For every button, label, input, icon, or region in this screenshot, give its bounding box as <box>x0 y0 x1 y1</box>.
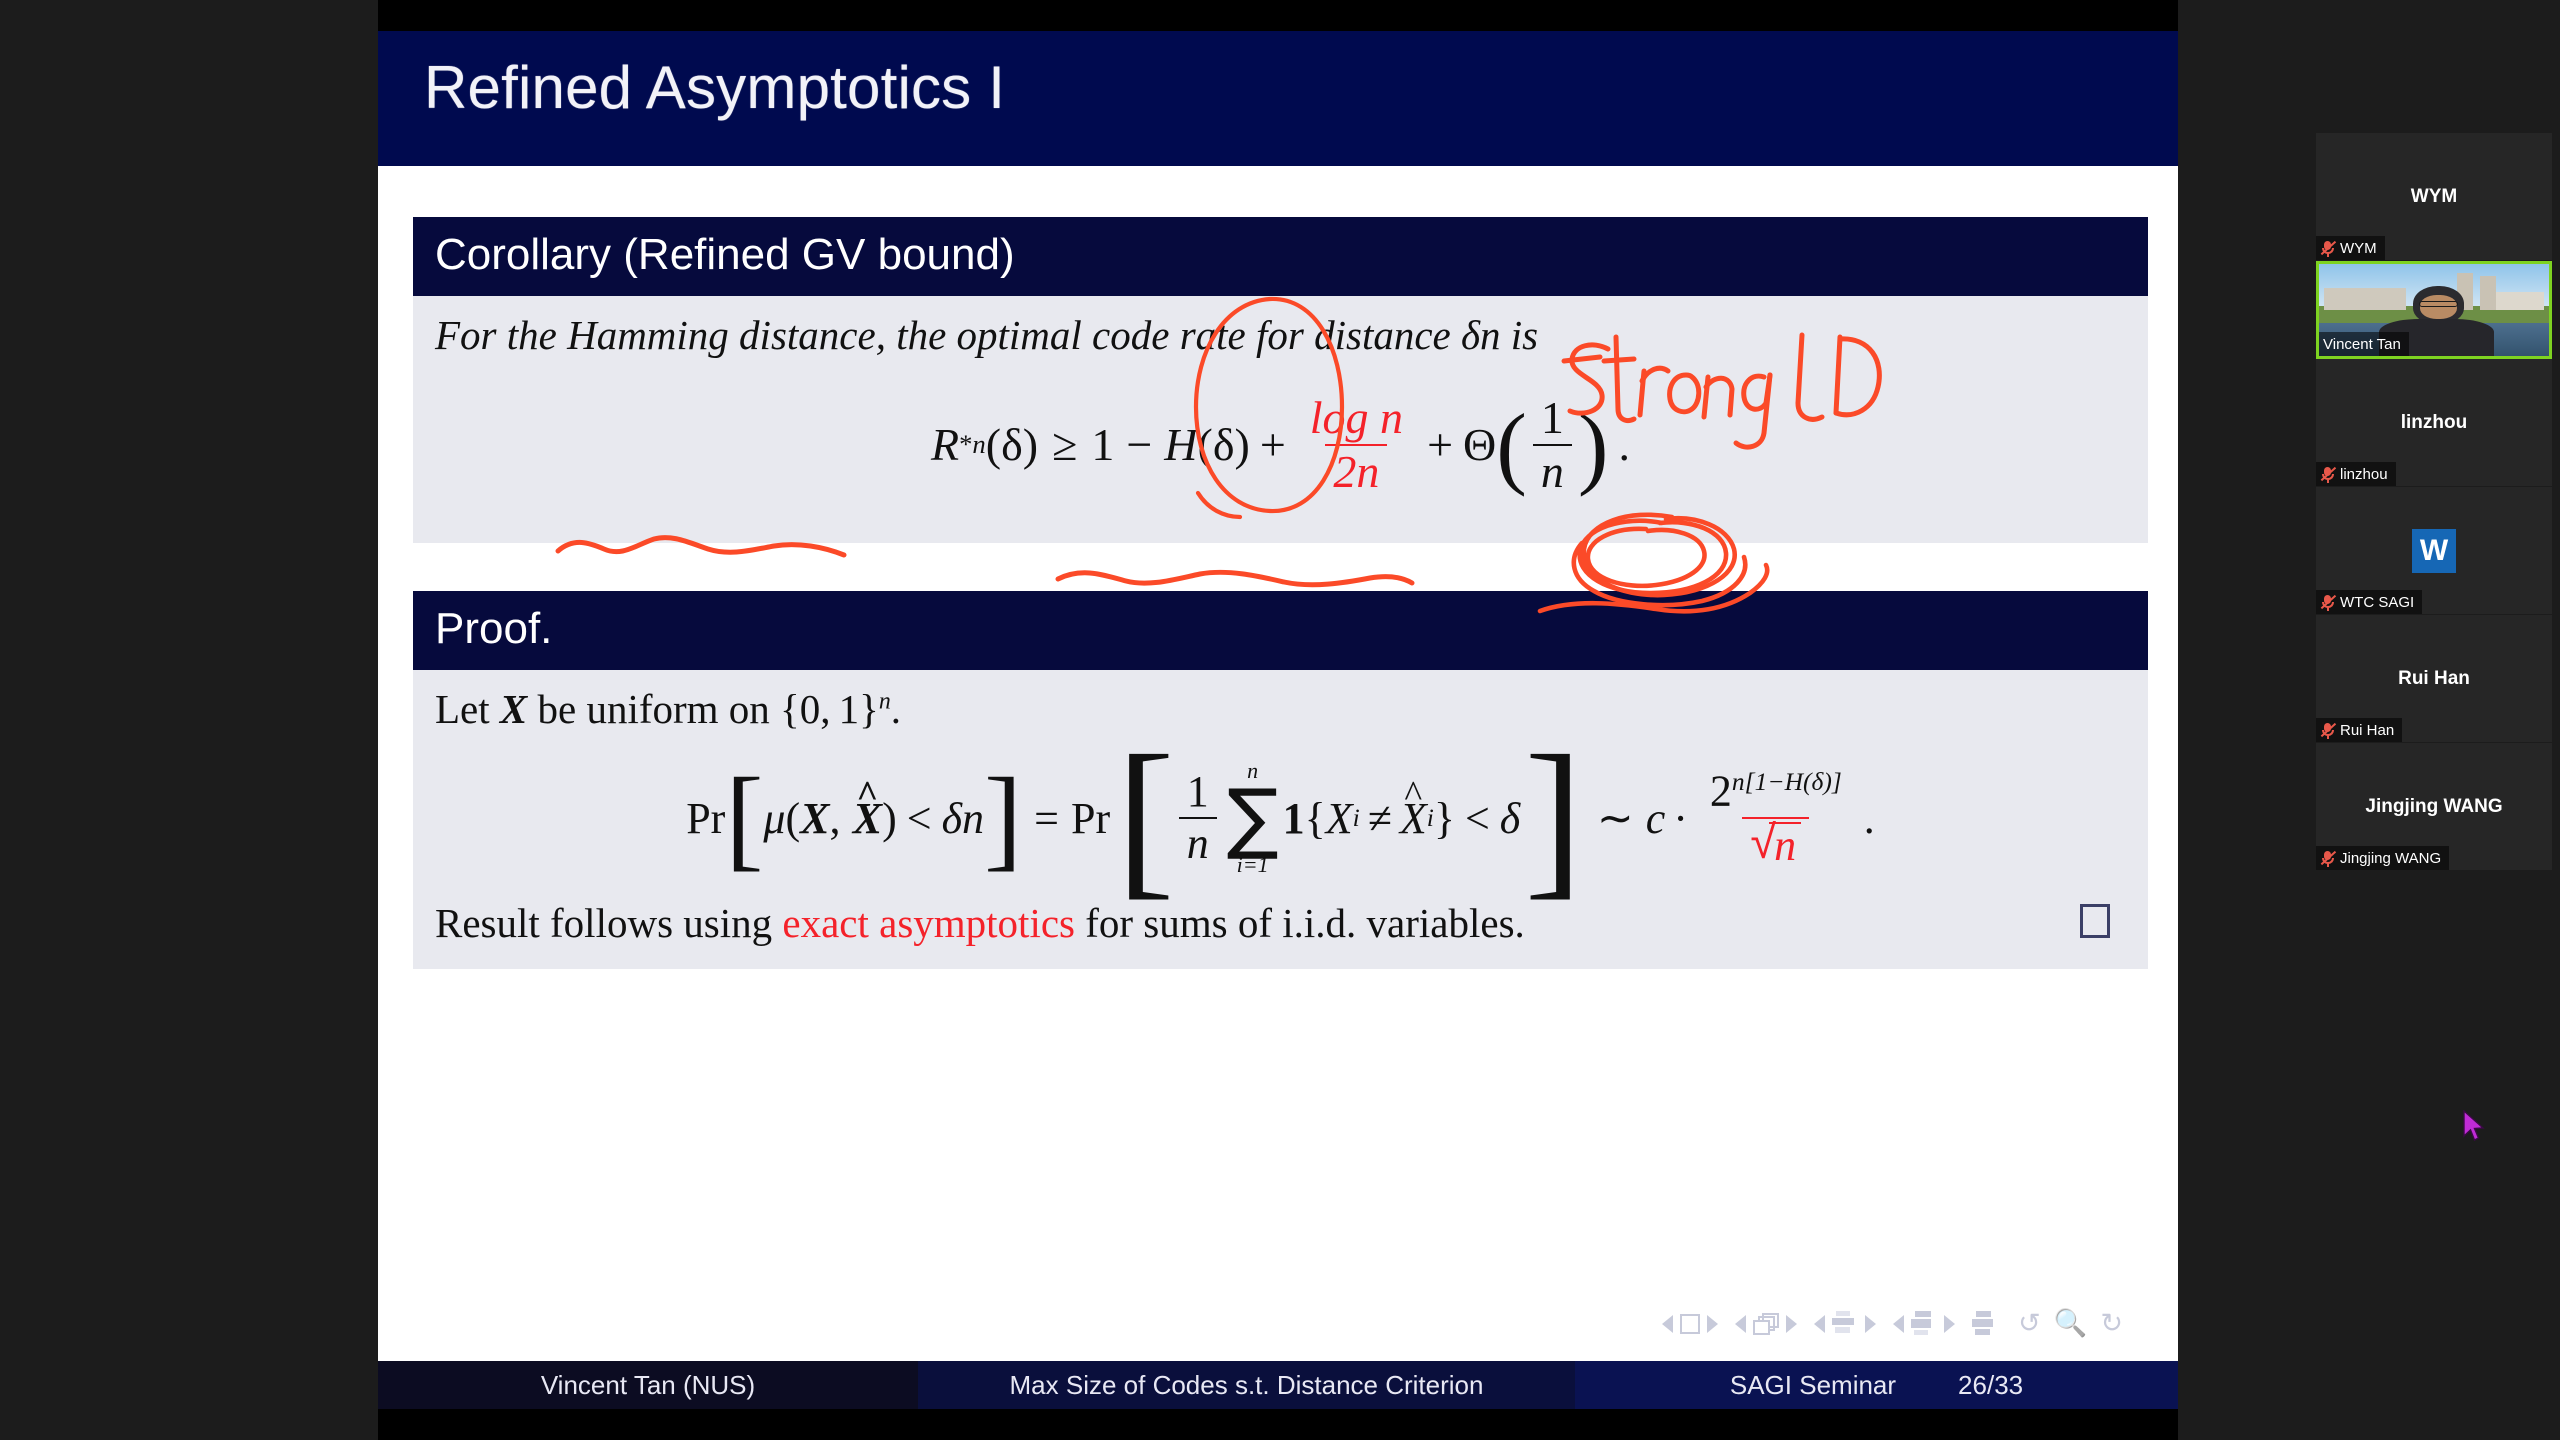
peq-Xhati: X <box>1400 793 1427 844</box>
prev-frame-icon[interactable] <box>1735 1315 1746 1333</box>
eq-log-over-2n: log n 2n <box>1302 395 1411 495</box>
participant-tile-jingjing-wang[interactable]: Jingjing WANG Jingjing WANG <box>2316 743 2552 871</box>
participant-display-name: linzhou <box>2395 412 2473 434</box>
participant-name-label: WYM <box>2340 240 2377 257</box>
corollary-block: Corollary (Refined GV bound) For the Ham… <box>413 217 2148 543</box>
corollary-statement: For the Hamming distance, the optimal co… <box>435 310 2126 361</box>
peq-equals: = <box>1034 793 1059 844</box>
peq-bracket-close-1: ] <box>984 787 1022 850</box>
peq-comma: , <box>830 793 841 844</box>
prev-slide-icon[interactable] <box>1662 1315 1673 1333</box>
slide-title-bar: Refined Asymptotics I <box>378 31 2178 166</box>
proof-be-uniform: be uniform on <box>538 686 770 732</box>
proof-equation: Pr [ μ(X, X) < δn ] = Pr [ 1 n n ∑ <box>435 761 2126 876</box>
participant-name-label: Rui Han <box>2340 722 2394 739</box>
peq-lt-2: < <box>1465 793 1490 844</box>
peq-rhs-base: 2 <box>1710 767 1732 816</box>
next-section-icon[interactable] <box>1944 1315 1955 1333</box>
frames-stack-icon[interactable] <box>1753 1313 1779 1335</box>
peq-frac-den: n <box>1179 817 1217 866</box>
proof-let: Let <box>435 686 490 732</box>
peq-Xhati-sub: i <box>1427 803 1434 833</box>
page-title: Refined Asymptotics I <box>424 53 1005 122</box>
qed-box <box>2080 904 2110 938</box>
document-doc-icon[interactable] <box>1972 1311 1998 1337</box>
corollary-body: For the Hamming distance, the optimal co… <box>413 296 2148 543</box>
corollary-equation: R*n(δ) ≥ 1 − H(δ) + log n 2n + Θ ( 1 n <box>435 395 2126 495</box>
mic-muted-icon <box>2320 722 2335 739</box>
peq-ind-close: } <box>1434 793 1455 844</box>
peq-rhs-fraction: 2n[1−H(δ)] n <box>1702 769 1850 868</box>
eq-R: R <box>931 418 959 471</box>
participant-name-badge: Rui Han <box>2316 718 2402 742</box>
peq-rhs-den-sqrt: n <box>1742 817 1809 868</box>
eq-H-arg: (δ) <box>1198 418 1250 471</box>
peq-delta-n: δn <box>942 793 984 844</box>
proof-body: Let X be uniform on {0, 1}n. Pr [ μ(X, X… <box>413 670 2148 969</box>
peq-paren-close: ) <box>882 793 897 844</box>
peq-indicator: 1 <box>1283 793 1305 844</box>
participant-name-label: Jingjing WANG <box>2340 850 2441 867</box>
participant-display-name: Jingjing WANG <box>2359 796 2508 818</box>
slide-square-icon[interactable] <box>1680 1314 1700 1334</box>
eq-geq: ≥ <box>1052 418 1077 471</box>
slide-footer: Vincent Tan (NUS) Max Size of Codes s.t.… <box>378 1361 2178 1409</box>
result-suffix: for sums of i.i.d. variables. <box>1075 900 1525 946</box>
proof-set: {0, 1} <box>780 686 879 732</box>
footer-author: Vincent Tan (NUS) <box>378 1361 918 1409</box>
participant-name-label: Vincent Tan <box>2323 336 2401 353</box>
footer-event-group: SAGI Seminar 26/33 <box>1575 1361 2178 1409</box>
peq-rhs-num: 2n[1−H(δ)] <box>1702 769 1850 817</box>
peq-lt-1: < <box>907 793 932 844</box>
participant-name-badge: WYM <box>2316 236 2385 260</box>
peq-summation: n ∑ i=1 <box>1227 761 1279 876</box>
result-prefix: Result follows using <box>435 900 782 946</box>
mic-muted-icon <box>2320 594 2335 611</box>
peq-bracket-open-2: [ <box>1116 770 1175 867</box>
participant-panel: WYM WYM Vincent Tan linzhou <box>2308 0 2560 1440</box>
subsection-doc-icon[interactable] <box>1832 1311 1858 1337</box>
eq-one: 1 <box>1091 418 1114 471</box>
proof-period: . <box>891 686 901 732</box>
avatar: W <box>2412 529 2456 573</box>
nav-group-section[interactable] <box>1893 1311 1955 1337</box>
peq-Pr-2: Pr <box>1071 793 1110 844</box>
peq-Xi-sub: i <box>1353 803 1360 833</box>
peq-frac-num: 1 <box>1179 770 1217 817</box>
beamer-slide: Refined Asymptotics I Corollary (Refined… <box>378 31 2178 1409</box>
peq-c: c <box>1646 793 1666 844</box>
screen-share-region: Refined Asymptotics I Corollary (Refined… <box>0 0 2308 1440</box>
peq-cdot: · <box>1673 793 1688 844</box>
peq-sigma: ∑ <box>1227 782 1279 855</box>
eq-R-arg: (δ) <box>986 418 1038 471</box>
participant-tile-vincent-tan[interactable]: Vincent Tan <box>2316 261 2552 359</box>
eq-2n: 2n <box>1325 444 1387 495</box>
peq-delta: δ <box>1500 793 1520 844</box>
peq-X-hat: X <box>853 793 882 844</box>
participant-name-badge: linzhou <box>2316 462 2396 486</box>
eq-log-n: log n <box>1302 395 1411 444</box>
eq-theta-frac: 1 n <box>1533 395 1572 495</box>
eq-theta-num: 1 <box>1533 395 1572 444</box>
eq-R-sub-n: n <box>972 429 985 460</box>
peq-rhs-exp: n[1−H(δ)] <box>1732 767 1842 796</box>
nav-group-frame[interactable] <box>1735 1313 1797 1335</box>
eq-theta-paren-open: ( <box>1496 419 1527 474</box>
peq-rhs-den: n <box>1769 822 1802 868</box>
prev-section-icon[interactable] <box>1893 1315 1904 1333</box>
mic-muted-icon <box>2320 240 2335 257</box>
eq-theta: Θ <box>1463 418 1496 471</box>
footer-page-number: 26/33 <box>1958 1370 2023 1401</box>
proof-block: Proof. Let X be uniform on {0, 1}n. Pr [… <box>413 591 2148 969</box>
participant-name-badge: Vincent Tan <box>2319 332 2409 356</box>
proof-set-sup: n <box>879 688 891 714</box>
nav-group-document[interactable] <box>1972 1311 1998 1337</box>
eq-R-star: * <box>959 429 972 460</box>
section-doc-icon[interactable] <box>1911 1311 1937 1337</box>
participant-display-name: Rui Han <box>2392 668 2476 690</box>
next-slide-icon[interactable] <box>1707 1315 1718 1333</box>
eq-plus-1: + <box>1260 418 1286 471</box>
proof-bold-X: X <box>500 686 527 732</box>
annotation-underline-empirical-sum <box>1058 572 1412 584</box>
peq-bracket-open-1: [ <box>725 787 763 850</box>
peq-sim: ∼ <box>1597 793 1634 844</box>
participant-tile-linzhou[interactable]: linzhou linzhou <box>2316 359 2552 487</box>
peq-neq: ≠ <box>1368 793 1392 844</box>
peq-X: X <box>800 793 829 844</box>
forward-icon[interactable]: ↻ <box>2100 1310 2123 1337</box>
peq-bracket-close-2: ] <box>1524 770 1583 867</box>
eq-theta-den: n <box>1533 444 1572 495</box>
peq-period: . <box>1864 793 1875 844</box>
peq-ind-open: { <box>1305 793 1326 844</box>
next-frame-icon[interactable] <box>1786 1315 1797 1333</box>
footer-event-name: SAGI Seminar <box>1730 1370 1896 1401</box>
participant-tile-wtc-sagi[interactable]: W WTC SAGI <box>2316 487 2552 615</box>
next-subsection-icon[interactable] <box>1865 1315 1876 1333</box>
beamer-navigation-bar[interactable]: ↺ 🔍 ↻ <box>1662 1310 2126 1337</box>
result-accent: exact asymptotics <box>782 900 1075 946</box>
proof-line-1: Let X be uniform on {0, 1}n. <box>435 684 2126 735</box>
eq-period: . <box>1619 418 1631 471</box>
peq-sum-lower: i=1 <box>1237 855 1269 876</box>
mouse-cursor <box>2462 1110 2488 1144</box>
participant-tile-wym[interactable]: WYM WYM <box>2316 133 2552 261</box>
eq-minus: − <box>1126 418 1152 471</box>
nav-group-subsection[interactable] <box>1814 1311 1876 1337</box>
search-icon[interactable]: 🔍 <box>2054 1310 2088 1337</box>
participant-name-label: linzhou <box>2340 466 2388 483</box>
nav-group-history[interactable]: ↺ 🔍 ↻ <box>2015 1310 2126 1337</box>
participant-name-badge: Jingjing WANG <box>2316 846 2449 870</box>
participant-display-name: WYM <box>2405 186 2463 208</box>
mic-muted-icon <box>2320 850 2335 867</box>
mic-muted-icon <box>2320 466 2335 483</box>
participant-name-badge: WTC SAGI <box>2316 590 2422 614</box>
eq-plus-2: + <box>1427 418 1453 471</box>
back-icon[interactable]: ↺ <box>2018 1310 2041 1337</box>
eq-theta-paren-close: ) <box>1578 419 1609 474</box>
peq-paren-open: ( <box>786 793 801 844</box>
proof-heading: Proof. <box>413 591 2148 670</box>
participant-strip[interactable]: WYM WYM Vincent Tan linzhou <box>2316 133 2552 871</box>
peq-mu: μ <box>763 793 785 844</box>
prev-subsection-icon[interactable] <box>1814 1315 1825 1333</box>
peq-Xi: X <box>1326 793 1353 844</box>
peq-Pr-1: Pr <box>686 793 725 844</box>
corollary-heading: Corollary (Refined GV bound) <box>413 217 2148 296</box>
nav-group-slide[interactable] <box>1662 1314 1718 1334</box>
eq-H: H <box>1164 418 1197 471</box>
peq-one-over-n: 1 n <box>1179 770 1217 866</box>
participant-name-label: WTC SAGI <box>2340 594 2414 611</box>
proof-result-line: Result follows using exact asymptotics f… <box>435 898 2126 949</box>
participant-tile-rui-han[interactable]: Rui Han Rui Han <box>2316 615 2552 743</box>
footer-title: Max Size of Codes s.t. Distance Criterio… <box>918 1361 1575 1409</box>
